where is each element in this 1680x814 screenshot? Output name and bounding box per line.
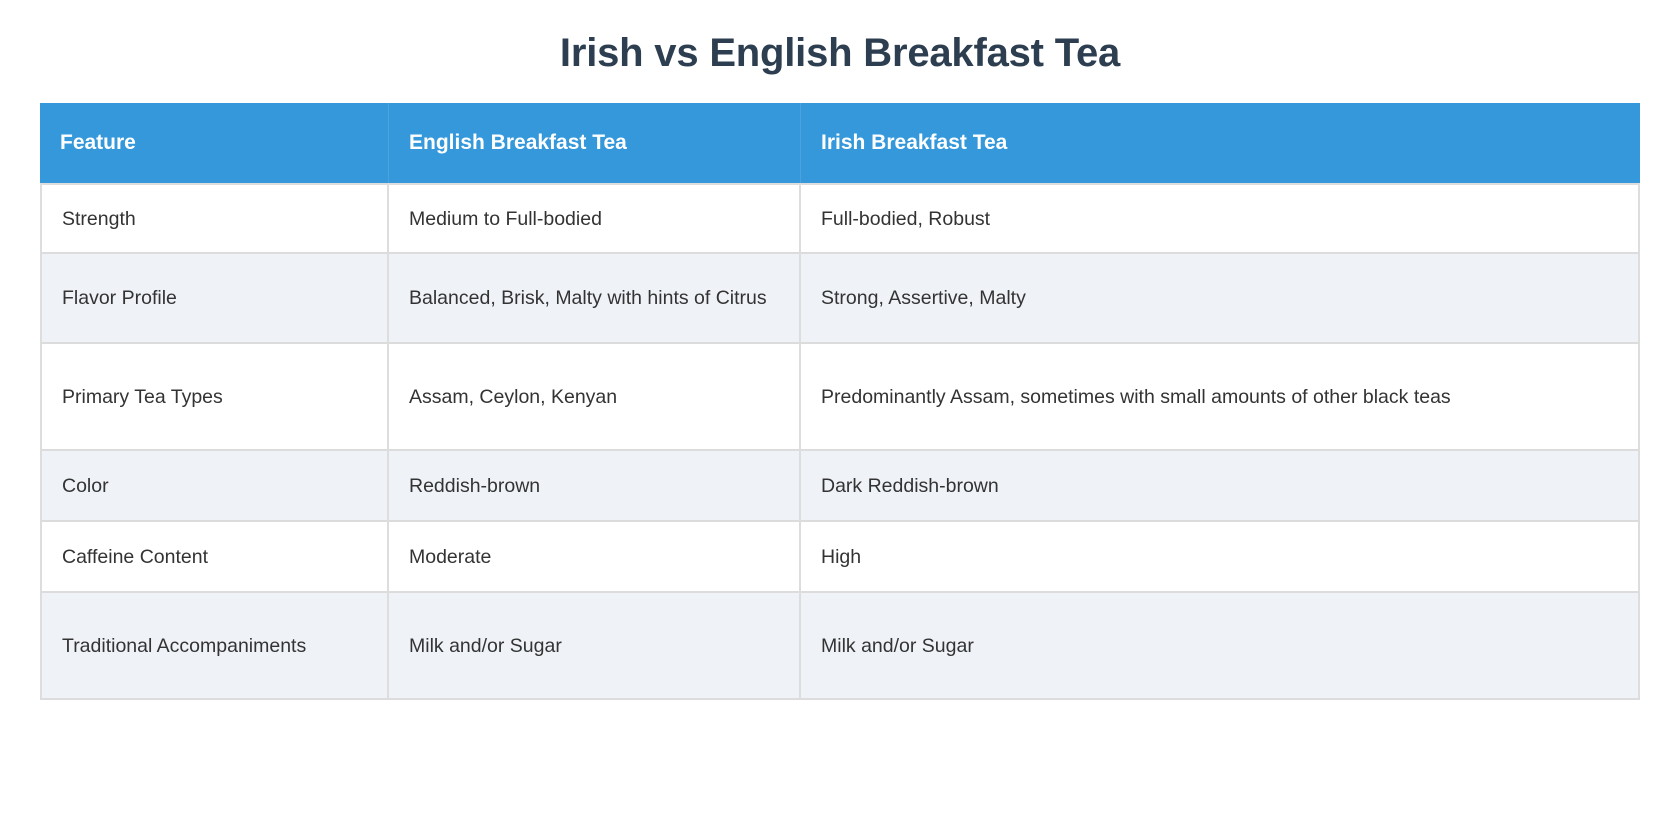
cell-feature: Color — [40, 451, 389, 522]
table-row: Color Reddish-brown Dark Reddish-brown — [40, 451, 1640, 522]
comparison-table: Feature English Breakfast Tea Irish Brea… — [40, 103, 1640, 700]
cell-irish: Predominantly Assam, sometimes with smal… — [801, 344, 1640, 451]
cell-feature: Primary Tea Types — [40, 344, 389, 451]
cell-irish: Strong, Assertive, Malty — [801, 254, 1640, 344]
cell-english: Assam, Ceylon, Kenyan — [389, 344, 801, 451]
table-row: Strength Medium to Full-bodied Full-bodi… — [40, 183, 1640, 254]
table-row: Traditional Accompaniments Milk and/or S… — [40, 593, 1640, 700]
cell-english: Moderate — [389, 522, 801, 593]
cell-feature: Flavor Profile — [40, 254, 389, 344]
table-body: Strength Medium to Full-bodied Full-bodi… — [40, 183, 1640, 700]
cell-english: Milk and/or Sugar — [389, 593, 801, 700]
column-header-irish-breakfast-tea[interactable]: Irish Breakfast Tea — [801, 103, 1640, 183]
cell-feature: Caffeine Content — [40, 522, 389, 593]
cell-irish: High — [801, 522, 1640, 593]
page-title: Irish vs English Breakfast Tea — [0, 0, 1680, 76]
page-root: Irish vs English Breakfast Tea Feature E… — [0, 0, 1680, 814]
table-row: Flavor Profile Balanced, Brisk, Malty wi… — [40, 254, 1640, 344]
cell-english: Balanced, Brisk, Malty with hints of Cit… — [389, 254, 801, 344]
comparison-table-container: Feature English Breakfast Tea Irish Brea… — [40, 76, 1640, 700]
cell-feature: Traditional Accompaniments — [40, 593, 389, 700]
cell-feature: Strength — [40, 183, 389, 254]
cell-irish: Milk and/or Sugar — [801, 593, 1640, 700]
cell-english: Medium to Full-bodied — [389, 183, 801, 254]
cell-english: Reddish-brown — [389, 451, 801, 522]
cell-irish: Full-bodied, Robust — [801, 183, 1640, 254]
cell-irish: Dark Reddish-brown — [801, 451, 1640, 522]
column-header-feature[interactable]: Feature — [40, 103, 389, 183]
table-row: Primary Tea Types Assam, Ceylon, Kenyan … — [40, 344, 1640, 451]
table-row: Caffeine Content Moderate High — [40, 522, 1640, 593]
column-header-english-breakfast-tea[interactable]: English Breakfast Tea — [389, 103, 801, 183]
table-header-row: Feature English Breakfast Tea Irish Brea… — [40, 103, 1640, 183]
table-header: Feature English Breakfast Tea Irish Brea… — [40, 103, 1640, 183]
